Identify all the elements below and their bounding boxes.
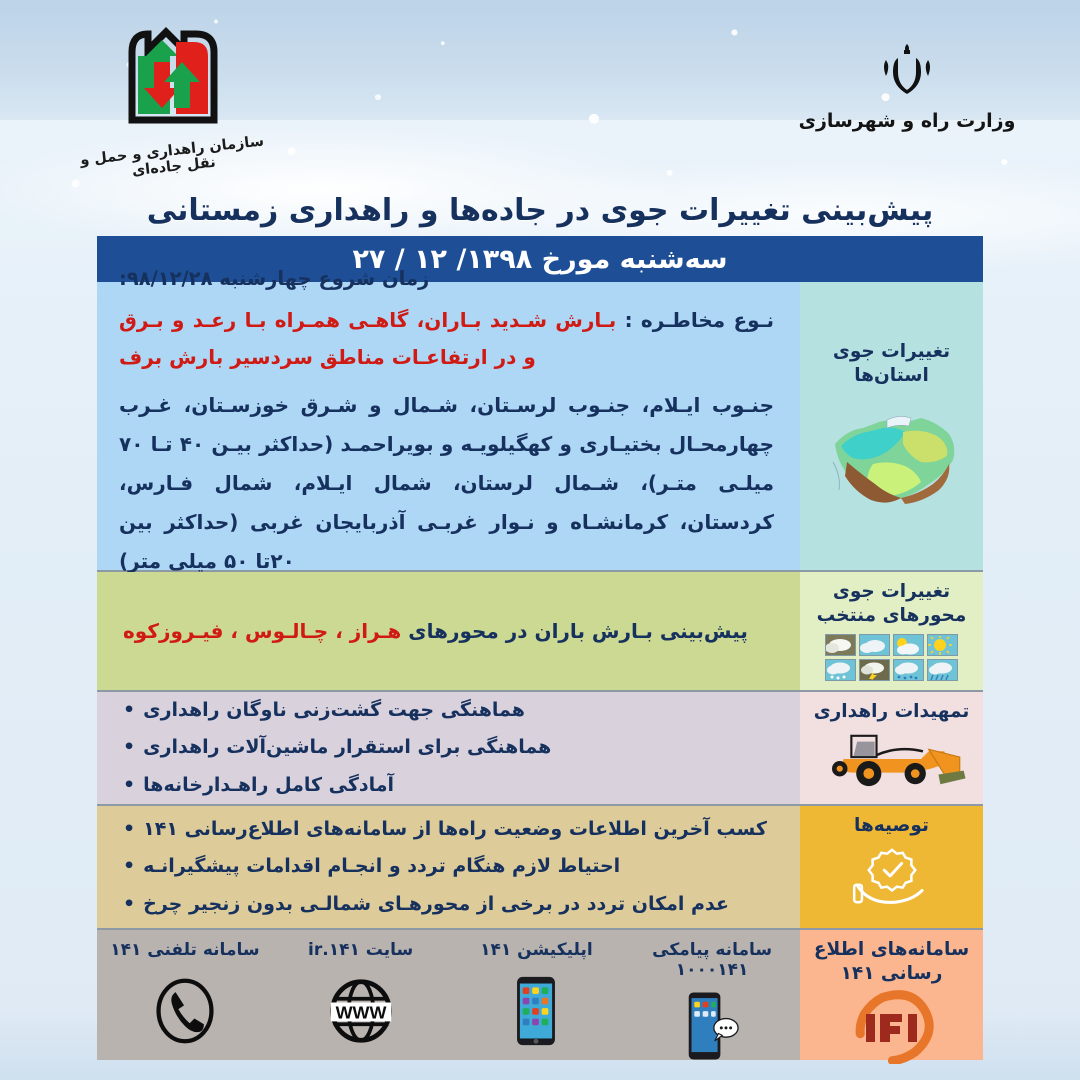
category-channels: سامانه‌های اطلاع رسانی ۱۴۱ (800, 930, 983, 1060)
axes-forecast-text: پیش‌بینی بـارش باران در محورهای هـراز ، … (123, 615, 774, 647)
list-item: کسب آخرین اطلاعات وضعیت راه‌ها از سامانه… (123, 811, 774, 848)
affected-regions-text: جنـوب ایـلام، جنـوب لرسـتان، شـمال و شـر… (119, 386, 774, 581)
smartphone-app-icon (515, 970, 557, 1052)
category-provinces: تغییرات جوی استان‌ها (800, 282, 983, 570)
thunderstorm-icon (859, 659, 890, 681)
category-selected-axes-label: تغییرات جوی محورهای منتخب (806, 580, 977, 628)
category-measures-label: تمهیدات راهداری (814, 700, 970, 724)
channel-website-label: سایت ۱۴۱.ir (308, 940, 413, 960)
start-time-text: زمان شروع چهارشنبه ۹۸/۱۲/۲۸: (119, 267, 774, 290)
ministry-logo-caption: وزارت راه و شهرسازی (792, 110, 1022, 132)
rmto-logo-caption: سازمان راهداری و حمل و نقل جاده‌ای (77, 133, 269, 185)
iran-emblem-icon (874, 34, 940, 100)
provinces-content: زمان شروع چهارشنبه ۹۸/۱۲/۲۸: نـوع مخاطـر… (97, 282, 800, 570)
channel-phone-label: سامانه تلفنی ۱۴۱ (110, 940, 259, 960)
channel-app[interactable]: اپلیکیشن ۱۴۱ (449, 930, 625, 1060)
channel-sms[interactable]: سامانه پیامکی ۱۰۰۰۱۴۱ (624, 930, 800, 1060)
advice-content: کسب آخرین اطلاعات وضعیت راه‌ها از سامانه… (97, 806, 800, 928)
ministry-logo-block: وزارت راه و شهرسازی (792, 34, 1022, 132)
sunny-icon (927, 634, 958, 656)
advice-list: کسب آخرین اطلاعات وضعیت راه‌ها از سامانه… (123, 811, 774, 922)
list-item: آمادگی کامل راهـدارخانه‌ها (123, 767, 774, 804)
www-globe-icon: WWW (325, 970, 397, 1052)
channel-website[interactable]: سایت ۱۴۱.ir WWW (273, 930, 449, 1060)
hand-check-icon (848, 844, 936, 912)
list-item: احتیاط لازم هنگام تردد و انجـام اقدامات … (123, 848, 774, 885)
category-channels-label: سامانه‌های اطلاع رسانی ۱۴۱ (806, 938, 977, 986)
channel-phone[interactable]: سامانه تلفنی ۱۴۱ (97, 930, 273, 1060)
category-measures: تمهیدات راهداری (800, 692, 983, 804)
row-advice: توصیه‌ها کسب آخرین اطلاعات وضعیت راه‌ها … (97, 806, 983, 930)
rain-icon (927, 659, 958, 681)
measures-list: هماهنگی جهت گشت‌زنی ناوگان راهداری هماهن… (123, 692, 774, 803)
measures-content: هماهنگی جهت گشت‌زنی ناوگان راهداری هماهن… (97, 692, 800, 804)
partly-cloudy-icon (893, 634, 924, 656)
weather-icon-grid (825, 634, 958, 681)
category-selected-axes: تغییرات جوی محورهای منتخب (800, 572, 983, 690)
rmto-logo-block: سازمان راهداری و حمل و نقل جاده‌ای (78, 22, 268, 175)
row-selected-axes: تغییرات جوی محورهای منتخب (97, 572, 983, 692)
infographic-table: تغییرات جوی استان‌ها زمان شروع چهارشنبه … (97, 282, 983, 1058)
overcast-icon (825, 634, 856, 656)
list-item: هماهنگی برای استقرار ماشین‌آلات راهداری (123, 729, 774, 766)
category-advice-label: توصیه‌ها (854, 814, 929, 838)
channel-app-label: اپلیکیشن ۱۴۱ (480, 940, 593, 960)
showers-icon (825, 659, 856, 681)
telephone-icon (151, 970, 219, 1052)
category-provinces-label: تغییرات جوی استان‌ها (806, 340, 977, 388)
category-advice: توصیه‌ها (800, 806, 983, 928)
rmto-logo-icon (114, 22, 232, 137)
hazard-description: بـارش شـدید بـاران، گاهـی همـراه بـا رعـ… (119, 308, 616, 369)
iran-map-icon (817, 402, 967, 526)
grader-machine-icon (813, 730, 971, 794)
axes-forecast-highlight: هـراز ، چـالـوس ، فیـروزکوه (123, 619, 401, 643)
list-item: هماهنگی جهت گشت‌زنی ناوگان راهداری (123, 692, 774, 729)
channels-content: سامانه پیامکی ۱۰۰۰۱۴۱ اپلیکیشن ۱۴۱ (97, 930, 800, 1060)
svg-text:WWW: WWW (335, 1003, 386, 1023)
row-provinces: تغییرات جوی استان‌ها زمان شروع چهارشنبه … (97, 282, 983, 572)
hazard-label: نـوع مخاطـره : (625, 308, 774, 332)
cloudy-icon (859, 634, 890, 656)
list-item: عدم امکان تردد در برخی از محورهـای شمالـ… (123, 886, 774, 923)
row-measures: تمهیدات راهداری هماهنگی جهت گشت‌زنی ناوگ… (97, 692, 983, 806)
page-title: پیش‌بینی تغییرات جوی در جاده‌ها و راهدار… (0, 186, 1080, 236)
page-header: سازمان راهداری و حمل و نقل جاده‌ای وزارت… (0, 0, 1080, 186)
logo-141-icon (842, 990, 942, 1068)
hazard-text: نـوع مخاطـره : بـارش شـدید بـاران، گاهـی… (119, 302, 774, 376)
axes-content: پیش‌بینی بـارش باران در محورهای هـراز ، … (97, 572, 800, 690)
row-channels: سامانه‌های اطلاع رسانی ۱۴۱ سامانه پیامکی… (97, 930, 983, 1060)
channel-sms-label: سامانه پیامکی ۱۰۰۰۱۴۱ (628, 940, 796, 980)
sms-phone-icon (685, 990, 739, 1062)
sleet-icon (893, 659, 924, 681)
axes-forecast-prefix: پیش‌بینی بـارش باران در محورهای (408, 619, 748, 643)
